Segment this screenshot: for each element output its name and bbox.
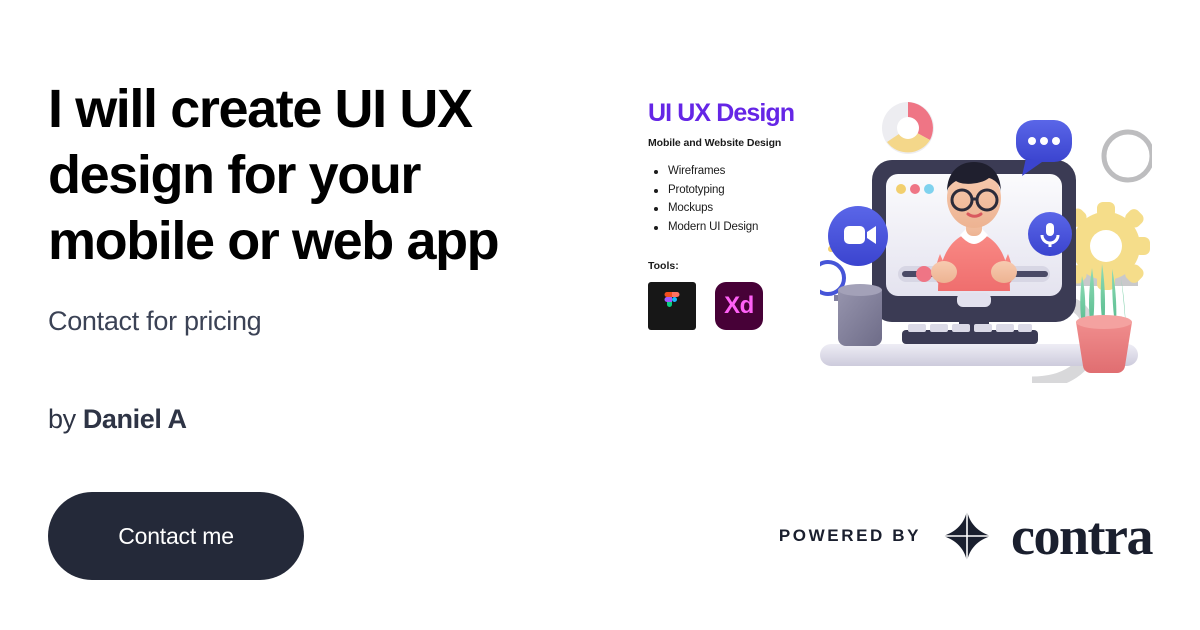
powered-by-contra: POWERED BY contra [779,508,1152,564]
circle-outline-decoration [1104,132,1152,180]
window-dot-red [910,184,920,194]
left-hand [931,261,957,283]
contact-me-button[interactable]: Contact me [48,492,304,580]
gig-thumbnail-image[interactable]: UI UX Design Mobile and Website Design W… [624,86,1152,383]
page-title: I will create UI UX design for your mobi… [48,76,588,274]
adobe-xd-icon: Xd [715,282,763,330]
byline: by Daniel A [48,400,187,438]
tools-label: Tools: [648,260,679,272]
byline-prefix: by [48,404,83,434]
donut-chart-decoration [882,102,934,154]
figma-icon [648,282,696,330]
keyboard [902,324,1038,344]
coffee-mug [834,284,882,346]
contra-wordmark: contra [1011,509,1152,563]
window-dot-blue [924,184,934,194]
pricing-text: Contact for pricing [48,303,261,339]
figma-glyph [662,292,682,321]
contra-star-icon [939,508,995,564]
progress-handle [916,266,932,282]
byline-author: Daniel A [83,404,187,434]
gig-promo-card: I will create UI UX design for your mobi… [0,0,1200,630]
video-camera-button [828,206,888,266]
window-dot-yellow [896,184,906,194]
right-hand [991,261,1017,283]
powered-by-label: POWERED BY [779,526,921,546]
left-content-column: I will create UI UX design for your mobi… [48,0,608,630]
designer-video-call-illustration [820,86,1152,383]
microphone-button [1028,212,1072,256]
